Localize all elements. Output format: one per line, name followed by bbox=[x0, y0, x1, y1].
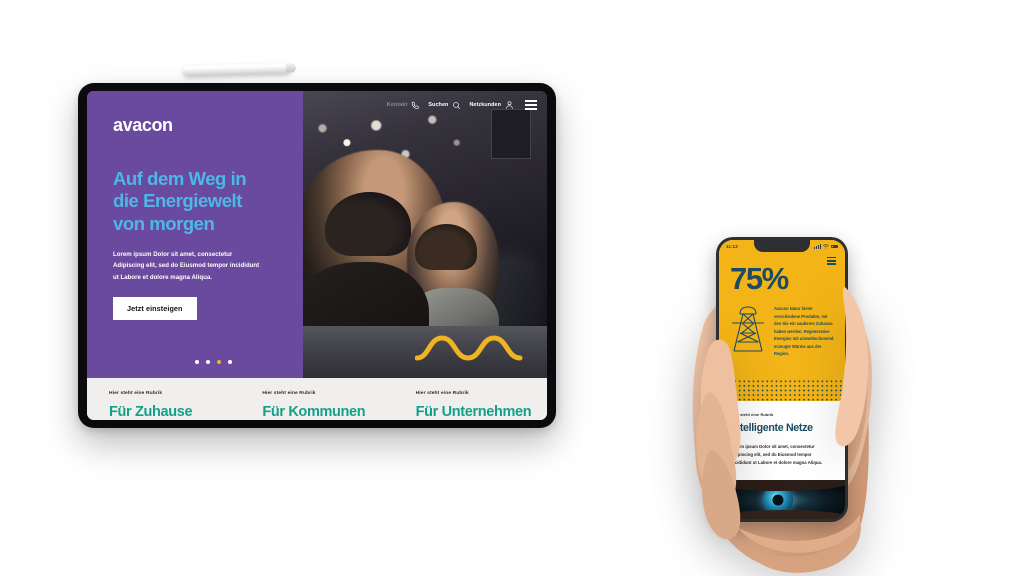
tablet-device: avacon Auf dem Weg in die Energiewelt vo… bbox=[78, 83, 556, 428]
teaser-title: Für Kommunen bbox=[262, 404, 379, 420]
figure-son-hair bbox=[415, 224, 477, 270]
carousel-dot-3-active[interactable] bbox=[217, 360, 221, 364]
hero-image-pane: Kontakt Suchen bbox=[303, 91, 547, 378]
carousel-dot-1[interactable] bbox=[195, 360, 199, 364]
apple-pencil bbox=[183, 62, 291, 76]
user-icon bbox=[505, 100, 514, 110]
hero-photo-father-and-son bbox=[303, 91, 547, 378]
hand-fingertips-overlay bbox=[648, 228, 892, 576]
tablet-screen: avacon Auf dem Weg in die Energiewelt vo… bbox=[87, 91, 547, 420]
hero-headline: Auf dem Weg in die Energiewelt von morge… bbox=[113, 168, 281, 235]
hamburger-menu-icon[interactable] bbox=[525, 100, 537, 109]
teaser-kicker: Hier steht eine Rubrik bbox=[262, 391, 379, 396]
nav-label-suchen: Suchen bbox=[428, 102, 448, 108]
tablet-hero-section: avacon Auf dem Weg in die Energiewelt vo… bbox=[87, 91, 547, 378]
teaser-card-row: Hier steht eine Rubrik Für Zuhause Hier … bbox=[87, 378, 547, 420]
phone-icon bbox=[411, 101, 420, 110]
carousel-dot-4[interactable] bbox=[228, 360, 232, 364]
nav-item-suchen[interactable]: Suchen bbox=[428, 101, 461, 110]
avacon-logo[interactable]: avacon bbox=[113, 115, 281, 136]
teaser-card-kommunen[interactable]: Hier steht eine Rubrik Für Kommunen bbox=[240, 391, 393, 420]
site-top-navigation[interactable]: Kontakt Suchen bbox=[387, 100, 537, 110]
hero-text-pane: avacon Auf dem Weg in die Energiewelt vo… bbox=[87, 91, 303, 378]
nav-label-netzkunden: Netzkunden bbox=[469, 102, 501, 108]
nav-item-netzkunden[interactable]: Netzkunden bbox=[469, 100, 514, 110]
teaser-card-unternehmen[interactable]: Hier steht eine Rubrik Für Unternehmen bbox=[394, 391, 547, 420]
teaser-card-zuhause[interactable]: Hier steht eine Rubrik Für Zuhause bbox=[87, 391, 240, 420]
hero-headline-line-3: von morgen bbox=[113, 213, 281, 235]
hand-holding-phone: 11:13 75% bbox=[648, 228, 892, 576]
figure-father-hair bbox=[325, 192, 411, 256]
nav-item-kontakt[interactable]: Kontakt bbox=[387, 101, 421, 110]
teaser-title: Für Unternehmen bbox=[416, 404, 533, 420]
carousel-dot-2[interactable] bbox=[206, 360, 210, 364]
nav-label-kontakt: Kontakt bbox=[387, 102, 408, 108]
yellow-wave-graphic bbox=[415, 332, 523, 366]
teaser-kicker: Hier steht eine Rubrik bbox=[109, 391, 226, 396]
teaser-title: Für Zuhause bbox=[109, 404, 226, 420]
hero-subtitle: Lorem ipsum Dolor sit amet, consectetur … bbox=[113, 249, 261, 283]
mockup-scene: avacon Auf dem Weg in die Energiewelt vo… bbox=[0, 0, 1024, 576]
hero-headline-line-1: Auf dem Weg in bbox=[113, 168, 281, 190]
search-icon bbox=[452, 101, 461, 110]
carousel-dots[interactable] bbox=[195, 360, 232, 364]
hero-headline-line-2: die Energiewelt bbox=[113, 190, 281, 212]
teaser-kicker: Hier steht eine Rubrik bbox=[416, 391, 533, 396]
hero-cta-button[interactable]: Jetzt einsteigen bbox=[113, 297, 197, 320]
